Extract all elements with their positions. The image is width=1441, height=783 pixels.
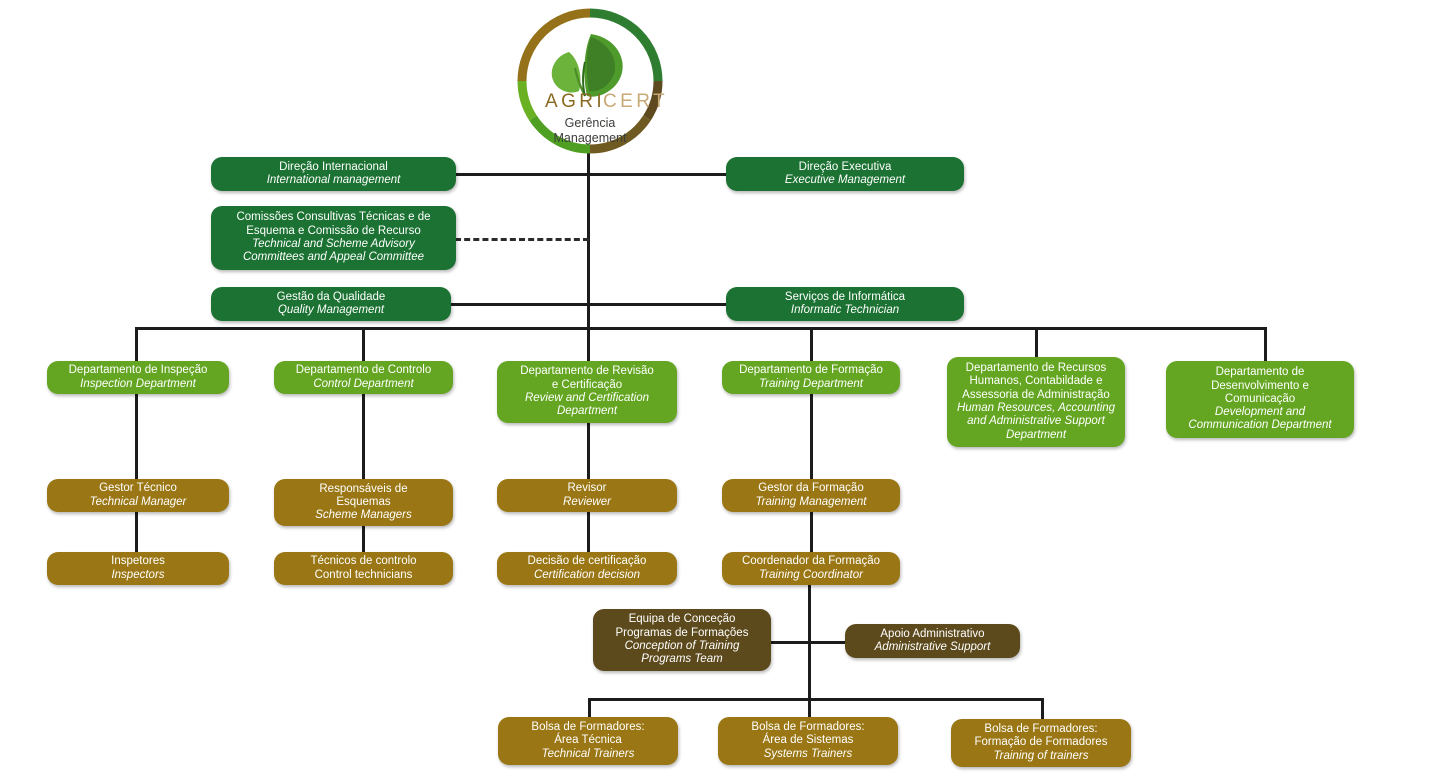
node-label-pt: Gestão da Qualidade <box>277 291 386 304</box>
node-administrative-support[interactable]: Apoio Administrativo Administrative Supp… <box>845 624 1020 658</box>
node-label-en: Control Department <box>313 378 413 391</box>
node-label-pt: Departamento de Controlo <box>296 364 432 377</box>
connector-drop-development <box>1264 327 1267 362</box>
node-label-pt: Inspetores <box>111 555 165 568</box>
node-certification-decision[interactable]: Decisão de certificação Certification de… <box>497 552 677 585</box>
node-training-coordinator[interactable]: Coordenador da Formação Training Coordin… <box>722 552 900 585</box>
node-label-en: Training Department <box>759 378 863 391</box>
node-label-pt: Apoio Administrativo <box>880 628 984 641</box>
node-label-en: Reviewer <box>563 496 611 509</box>
node-label-en: Inspection Department <box>80 378 196 391</box>
node-label-pt: Departamento de Revisão e Certificação <box>520 365 654 392</box>
node-department-training[interactable]: Departamento de Formação Training Depart… <box>722 361 900 394</box>
node-label-en: Training Management <box>755 496 866 509</box>
node-label-pt: Responsáveis de Esquemas <box>319 483 407 510</box>
node-technical-manager[interactable]: Gestor Técnico Technical Manager <box>47 479 229 512</box>
node-label-pt: Departamento de Desenvolvimento e Comuni… <box>1211 366 1309 406</box>
svg-text:AGRI: AGRI <box>545 91 605 112</box>
node-trainers-technical[interactable]: Bolsa de Formadores: Área Técnica Techni… <box>498 717 678 765</box>
logo-caption: Gerência Management <box>499 116 681 146</box>
node-label-en: Quality Management <box>278 304 384 317</box>
node-control-technicians[interactable]: Técnicos de controlo Control technicians <box>274 552 453 585</box>
node-label-pt: Bolsa de Formadores: Área de Sistemas <box>751 721 864 748</box>
connector-drop-review <box>587 327 590 362</box>
node-label-pt: Departamento de Inspeção <box>69 364 208 377</box>
node-department-development-communication[interactable]: Departamento de Desenvolvimento e Comuni… <box>1166 361 1354 438</box>
node-inspectors[interactable]: Inspetores Inspectors <box>47 552 229 585</box>
connector-drop-training <box>810 327 813 362</box>
node-department-inspection[interactable]: Departamento de Inspeção Inspection Depa… <box>47 361 229 394</box>
logo-caption-pt: Gerência <box>499 116 681 131</box>
node-informatic-services[interactable]: Serviços de Informática Informatic Techn… <box>726 287 964 321</box>
connector-control-chain <box>362 386 365 562</box>
node-advisory-committees[interactable]: Comissões Consultivas Técnicas e de Esqu… <box>211 206 456 270</box>
node-label-en: Inspectors <box>111 569 164 582</box>
node-label-pt: Gestor Técnico <box>99 482 177 495</box>
connector-drop-trainers-systems <box>808 698 811 718</box>
node-label-en: Training of trainers <box>993 750 1088 763</box>
connector-quality-informatics <box>450 303 731 306</box>
node-label-en: Technical and Scheme Advisory Committees… <box>243 238 424 265</box>
connector-committees-dashed <box>455 238 589 241</box>
node-label-en: Certification decision <box>534 569 640 582</box>
node-label-pt: Bolsa de Formadores: Área Técnica <box>531 721 644 748</box>
node-quality-management[interactable]: Gestão da Qualidade Quality Management <box>211 287 451 321</box>
node-label-pt: Revisor <box>568 482 607 495</box>
node-trainers-systems[interactable]: Bolsa de Formadores: Área de Sistemas Sy… <box>718 717 898 765</box>
node-international-management[interactable]: Direção Internacional International mana… <box>211 157 456 191</box>
node-department-control[interactable]: Departamento de Controlo Control Departm… <box>274 361 453 394</box>
connector-department-bus <box>135 327 1266 330</box>
node-training-management[interactable]: Gestor da Formação Training Management <box>722 479 900 512</box>
node-label-pt: Departamento de Recursos Humanos, Contab… <box>962 362 1110 402</box>
node-label-en: Control technicians <box>315 569 413 582</box>
node-label-en: Human Resources, Accounting and Administ… <box>957 402 1115 442</box>
node-label-pt: Bolsa de Formadores: Formação de Formado… <box>975 723 1108 750</box>
connector-drop-control <box>362 327 365 362</box>
node-label-pt: Direção Executiva <box>799 161 892 174</box>
node-label-en: International management <box>267 174 401 187</box>
node-label-en: Development and Communication Department <box>1188 406 1331 433</box>
connector-training-coordinator-down <box>808 580 811 699</box>
node-label-pt: Equipa de Conceção Programas de Formaçõe… <box>616 613 749 640</box>
org-chart: AGRI CERT Gerência Management Direção In… <box>0 0 1441 783</box>
node-label-pt: Coordenador da Formação <box>742 555 880 568</box>
node-label-en: Executive Management <box>785 174 905 187</box>
node-trainers-of-trainers[interactable]: Bolsa de Formadores: Formação de Formado… <box>951 719 1131 767</box>
connector-conception-admin <box>770 641 850 644</box>
node-label-en: Administrative Support <box>875 641 991 654</box>
node-label-en: Informatic Technician <box>791 304 899 317</box>
node-label-pt: Técnicos de controlo <box>310 555 416 568</box>
node-label-pt: Decisão de certificação <box>528 555 647 568</box>
node-reviewer[interactable]: Revisor Reviewer <box>497 479 677 512</box>
node-scheme-managers[interactable]: Responsáveis de Esquemas Scheme Managers <box>274 479 453 526</box>
node-label-en: Scheme Managers <box>315 509 412 522</box>
connector-inspection-chain <box>135 386 138 562</box>
connector-training-chain <box>810 386 813 562</box>
node-label-pt: Gestor da Formação <box>758 482 863 495</box>
node-label-en: Systems Trainers <box>764 748 853 761</box>
connector-drop-inspection <box>135 327 138 362</box>
node-label-en: Conception of Training Programs Team <box>625 640 740 667</box>
node-label-pt: Departamento de Formação <box>739 364 883 377</box>
node-conception-training-programs-team[interactable]: Equipa de Conceção Programas de Formaçõe… <box>593 609 771 671</box>
connector-drop-trainers-of-trainers <box>1041 698 1044 720</box>
node-label-en: Technical Trainers <box>542 748 635 761</box>
node-department-hr-accounting[interactable]: Departamento de Recursos Humanos, Contab… <box>947 357 1125 447</box>
node-label-en: Technical Manager <box>90 496 187 509</box>
logo-caption-en: Management <box>499 131 681 146</box>
agricert-logo: AGRI CERT Gerência Management <box>499 4 681 159</box>
node-label-pt: Direção Internacional <box>279 161 388 174</box>
connector-international-executive <box>453 173 731 176</box>
node-department-review-certification[interactable]: Departamento de Revisão e Certificação R… <box>497 361 677 423</box>
node-label-en: Review and Certification Department <box>525 392 649 419</box>
node-executive-management[interactable]: Direção Executiva Executive Management <box>726 157 964 191</box>
svg-text:CERT: CERT <box>603 91 668 112</box>
connector-drop-trainers-technical <box>588 698 591 718</box>
node-label-pt: Comissões Consultivas Técnicas e de Esqu… <box>236 211 430 238</box>
node-label-en: Training Coordinator <box>759 569 863 582</box>
node-label-pt: Serviços de Informática <box>785 291 905 304</box>
connector-trainers-bus <box>588 698 1044 701</box>
